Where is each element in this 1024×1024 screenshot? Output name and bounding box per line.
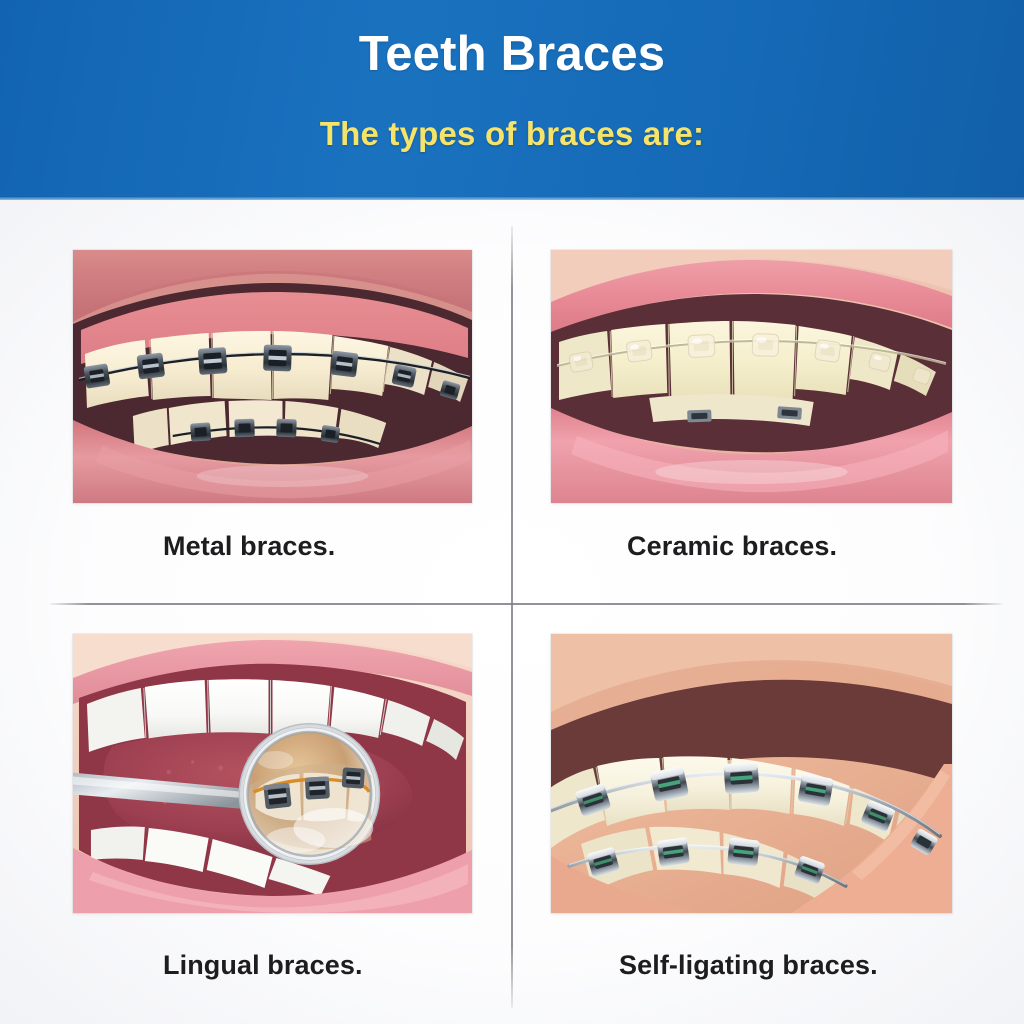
metal-braces-photo	[73, 250, 472, 503]
horizontal-divider	[50, 603, 1002, 605]
grid-cell-lingual	[73, 634, 472, 913]
lingual-braces-photo	[73, 634, 472, 913]
page-title: Teeth Braces	[0, 26, 1024, 82]
caption-ceramic-braces: Ceramic braces.	[627, 531, 837, 562]
self-ligating-braces-photo	[551, 634, 952, 913]
caption-metal-braces: Metal braces.	[163, 531, 335, 562]
ceramic-braces-photo	[551, 250, 952, 503]
teeth-braces-infographic: Teeth Braces The types of braces are:	[0, 0, 1024, 1024]
page-subtitle: The types of braces are:	[0, 115, 1024, 153]
grid-cell-self-ligating	[551, 634, 952, 913]
caption-self-ligating-braces: Self-ligating braces.	[619, 950, 878, 981]
grid-cell-metal	[73, 250, 472, 503]
grid-cell-ceramic	[551, 250, 952, 503]
header-banner: Teeth Braces The types of braces are:	[0, 0, 1024, 200]
caption-lingual-braces: Lingual braces.	[163, 950, 363, 981]
vertical-divider	[511, 226, 513, 1008]
